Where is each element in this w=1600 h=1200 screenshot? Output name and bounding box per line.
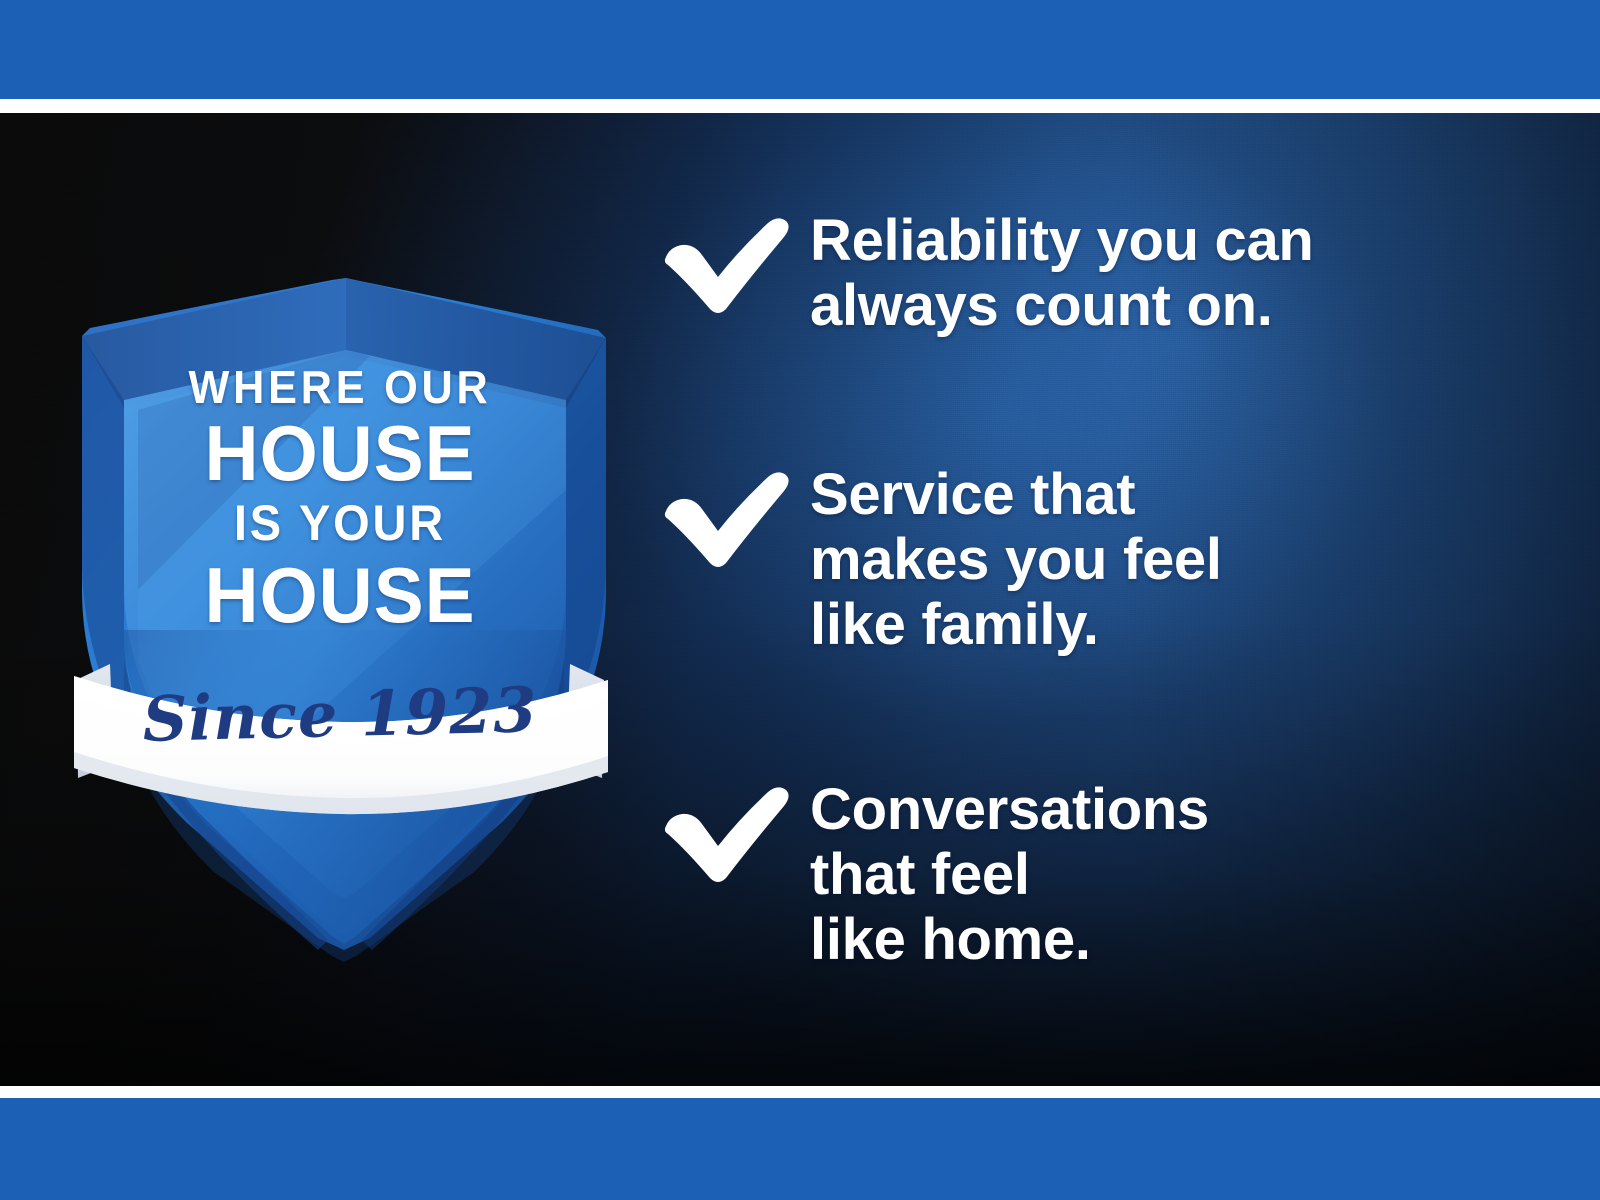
benefits-list: Reliability you can always count on. Ser…	[660, 113, 1540, 1086]
list-item: Reliability you can always count on.	[660, 209, 1540, 339]
list-item-label: Conversations that feel like home.	[810, 778, 1209, 973]
list-item-label: Service that makes you feel like family.	[810, 463, 1222, 658]
promo-graphic: WHERE OUR HOUSE IS YOUR HOUSE Since 1923…	[0, 0, 1600, 1200]
bottom-brand-bar	[0, 1098, 1600, 1200]
top-divider	[0, 99, 1600, 113]
top-brand-bar	[0, 0, 1600, 99]
shield-badge-logo: WHERE OUR HOUSE IS YOUR HOUSE Since 1923	[70, 160, 610, 840]
bottom-divider	[0, 1086, 1600, 1098]
list-item: Service that makes you feel like family.	[660, 463, 1540, 658]
list-item: Conversations that feel like home.	[660, 778, 1540, 973]
list-item-label: Reliability you can always count on.	[810, 209, 1314, 339]
checkmark-icon	[660, 778, 810, 886]
checkmark-icon	[660, 209, 810, 317]
checkmark-icon	[660, 463, 810, 571]
